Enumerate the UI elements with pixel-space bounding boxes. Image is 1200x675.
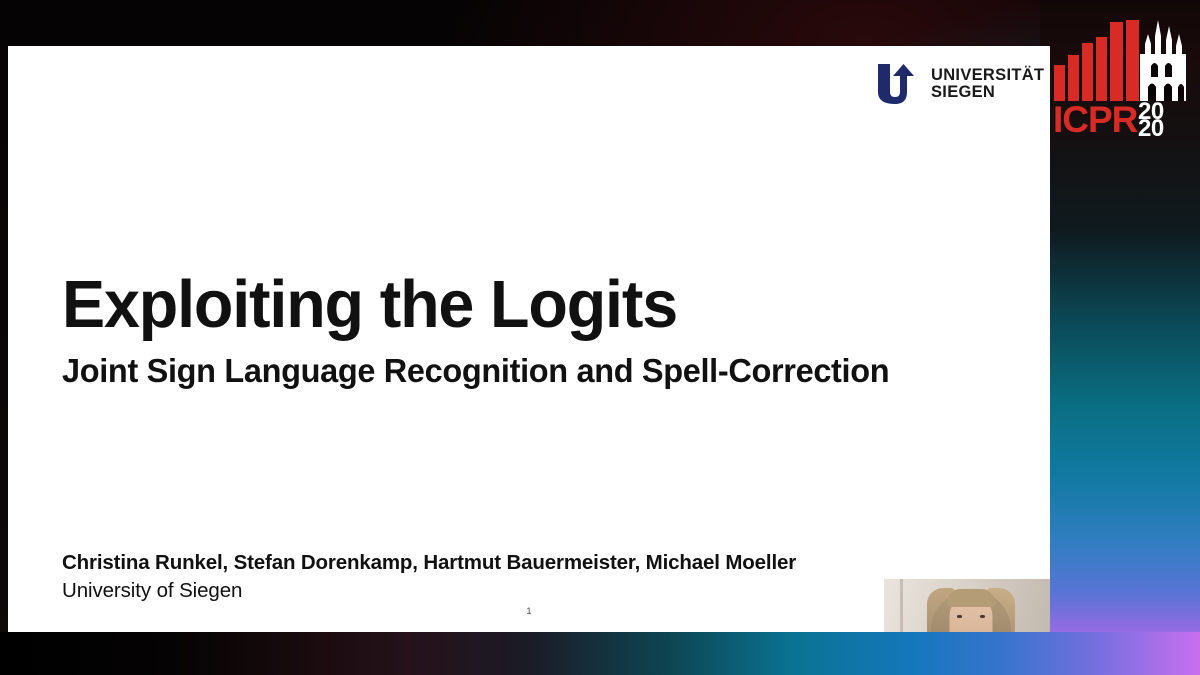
backdrop-bottom-gradient — [0, 632, 1200, 675]
author-list: Christina Runkel, Stefan Dorenkamp, Hart… — [62, 551, 796, 575]
title-block: Exploiting the Logits Joint Sign Languag… — [62, 271, 962, 391]
video-frame: UNIVERSITÄT SIEGEN Exploiting the Logits… — [0, 0, 1200, 675]
presenter-eye-left — [957, 615, 962, 618]
siegen-wordmark: UNIVERSITÄT SIEGEN — [931, 67, 1044, 101]
webcam-wall-edge — [900, 579, 903, 632]
presenter-eye-right — [980, 615, 985, 618]
icpr-wordmark: ICPR — [1053, 99, 1138, 136]
siegen-u-arrow-icon — [876, 62, 922, 106]
icpr-year-bottom: 20 — [1138, 115, 1164, 136]
presenter-fringe — [947, 589, 995, 607]
presenter-webcam-thumbnail[interactable] — [884, 579, 1050, 632]
slide-title: Exploiting the Logits — [62, 271, 931, 338]
slide-subtitle: Joint Sign Language Recognition and Spel… — [62, 354, 935, 391]
affiliation: University of Siegen — [62, 579, 796, 603]
icpr-logo-graphic: ICPR 20 20 — [1052, 14, 1192, 136]
siegen-wordmark-line2: SIEGEN — [931, 84, 1044, 101]
presentation-slide: UNIVERSITÄT SIEGEN Exploiting the Logits… — [8, 46, 1050, 632]
icpr-red-bars — [1054, 20, 1139, 101]
universitaet-siegen-logo: UNIVERSITÄT SIEGEN — [876, 62, 1044, 106]
siegen-wordmark-line1: UNIVERSITÄT — [931, 67, 1044, 84]
icpr-2020-logo: ICPR 20 20 — [1052, 14, 1192, 136]
authors-block: Christina Runkel, Stefan Dorenkamp, Hart… — [62, 551, 796, 603]
